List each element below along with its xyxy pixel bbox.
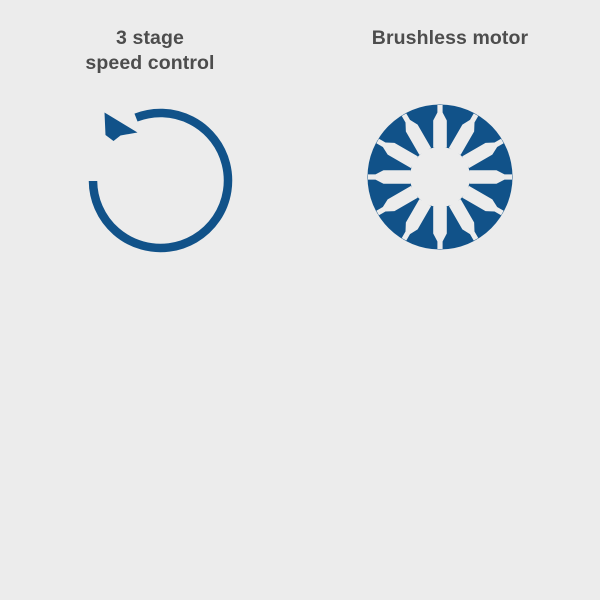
feature-brushless-motor: Brushless motor	[300, 0, 600, 300]
brushless-motor-icon	[300, 0, 600, 300]
feature-speed-control: 3 stage speed control	[0, 0, 300, 300]
feature-icons-panel: 3 stage speed control Brushless motor	[0, 0, 600, 600]
rotate-counterclockwise-icon	[0, 0, 300, 300]
